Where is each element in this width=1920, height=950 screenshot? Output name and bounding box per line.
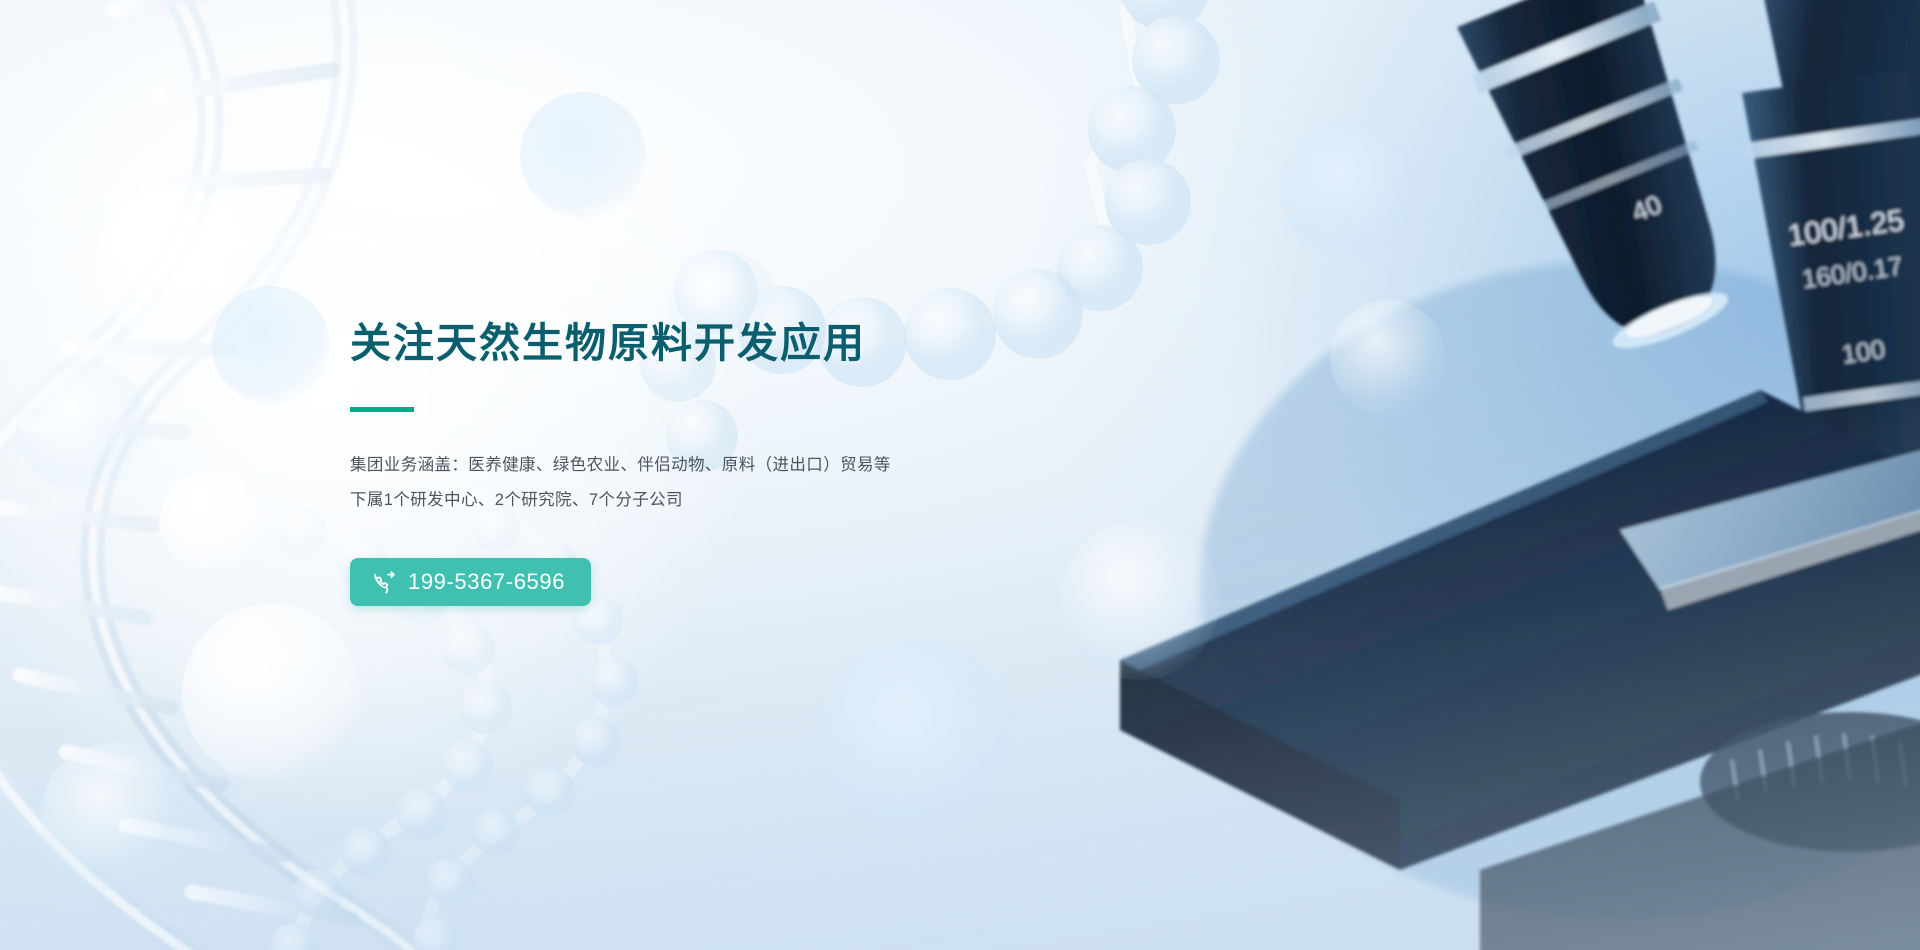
page-title: 关注天然生物原料开发应用: [350, 318, 1110, 369]
phone-number-label: 199-5367-6596: [408, 571, 565, 593]
phone-forward-icon: [372, 570, 397, 595]
hero-subtitle: 集团业务涵盖：医养健康、绿色农业、伴侣动物、原料（进出口）贸易等 下属1个研发中…: [350, 448, 1110, 518]
hero-content: 关注天然生物原料开发应用 集团业务涵盖：医养健康、绿色农业、伴侣动物、原料（进出…: [350, 318, 1110, 606]
phone-cta-button[interactable]: 199-5367-6596: [350, 558, 591, 606]
subtitle-line-1: 集团业务涵盖：医养健康、绿色农业、伴侣动物、原料（进出口）贸易等: [350, 448, 1110, 483]
subtitle-line-2: 下属1个研发中心、2个研究院、7个分子公司: [350, 483, 1110, 518]
title-divider: [350, 407, 414, 412]
hero-banner: 40 100/1.25 160/0.17 100: [0, 0, 1920, 950]
